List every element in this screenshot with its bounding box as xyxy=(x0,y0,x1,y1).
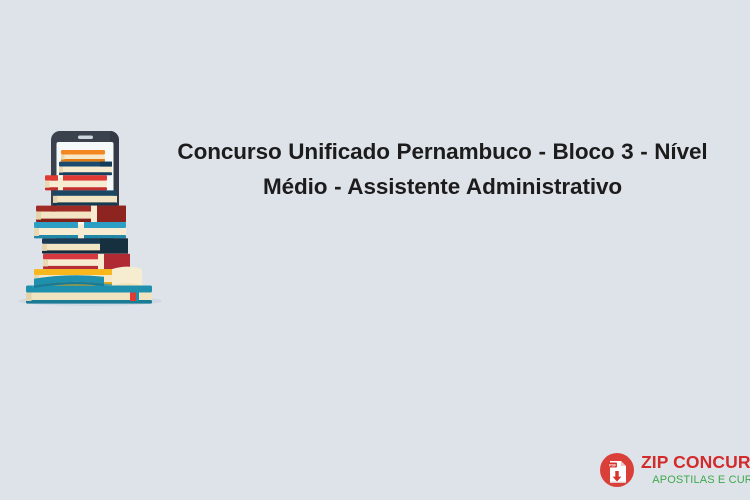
book-top-navy xyxy=(59,162,112,176)
book-red xyxy=(45,175,107,190)
book-crimson xyxy=(43,254,130,269)
logo-title: ZIP CONCURSOS xyxy=(641,454,750,472)
logo-wordmark: ZIP CONCURSOS APOSTILAS E CURSOS xyxy=(641,454,750,486)
book-blue xyxy=(34,222,126,238)
pdf-document-download-icon: PDF xyxy=(599,452,635,488)
banner-title-block: Concurso Unificado Pernambuco - Bloco 3 … xyxy=(160,134,725,204)
book-maroon xyxy=(36,206,126,222)
book-top-orange xyxy=(61,150,105,162)
logo-subtitle: APOSTILAS E CURSOS xyxy=(641,475,750,486)
page-title: Concurso Unificado Pernambuco - Bloco 3 … xyxy=(160,134,725,204)
books-and-smartphone-illustration xyxy=(12,118,172,318)
svg-text:PDF: PDF xyxy=(609,464,617,468)
zip-concursos-logo[interactable]: PDF ZIP CONCURSOS APOSTILAS E CURSOS xyxy=(599,450,741,490)
course-banner: Concurso Unificado Pernambuco - Bloco 3 … xyxy=(0,0,750,500)
book-dark-navy xyxy=(42,238,128,253)
book-navy xyxy=(53,190,117,205)
